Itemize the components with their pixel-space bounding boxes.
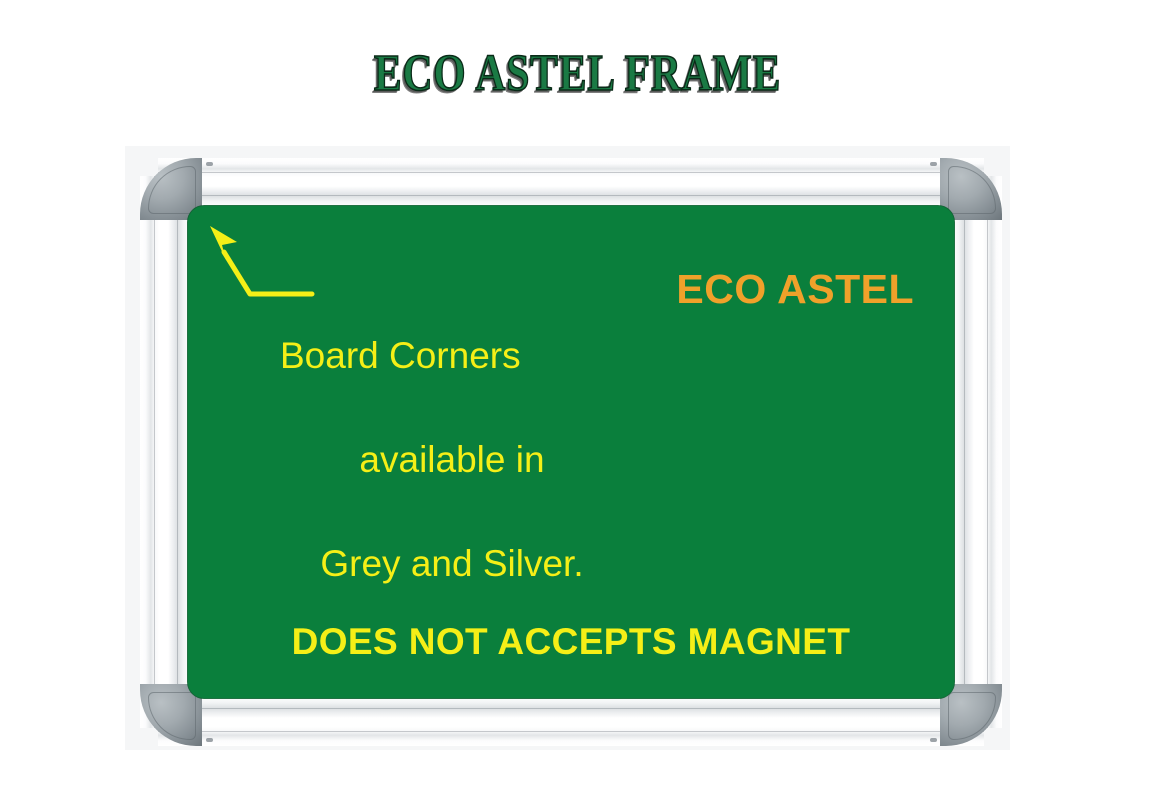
callout-line-1: Board Corners bbox=[280, 330, 624, 382]
frame-screw bbox=[930, 738, 937, 742]
frame-screw bbox=[206, 738, 213, 742]
callout-line-3: Grey and Silver. bbox=[280, 538, 624, 590]
corner-callout-text: Board Corners available in Grey and Silv… bbox=[280, 278, 624, 642]
frame-rail-bottom bbox=[158, 692, 984, 746]
brand-label: ECO ASTEL bbox=[676, 266, 914, 313]
frame-rail-left bbox=[140, 176, 194, 728]
page-title: ECO ASTEL FRAME bbox=[374, 44, 781, 104]
title-area: ECO ASTEL FRAME bbox=[0, 44, 1155, 114]
magnet-note: DOES NOT ACCEPTS MAGNET bbox=[188, 621, 954, 663]
callout-line-2: available in bbox=[280, 434, 624, 486]
frame-rail-right bbox=[948, 176, 1002, 728]
frame-rail-top bbox=[158, 158, 984, 212]
frame-screw bbox=[206, 162, 213, 166]
whiteboard-assembly: ECO ASTEL Board Corners available in Gre… bbox=[140, 158, 1002, 746]
green-writing-surface: ECO ASTEL Board Corners available in Gre… bbox=[188, 206, 954, 698]
frame-screw bbox=[930, 162, 937, 166]
